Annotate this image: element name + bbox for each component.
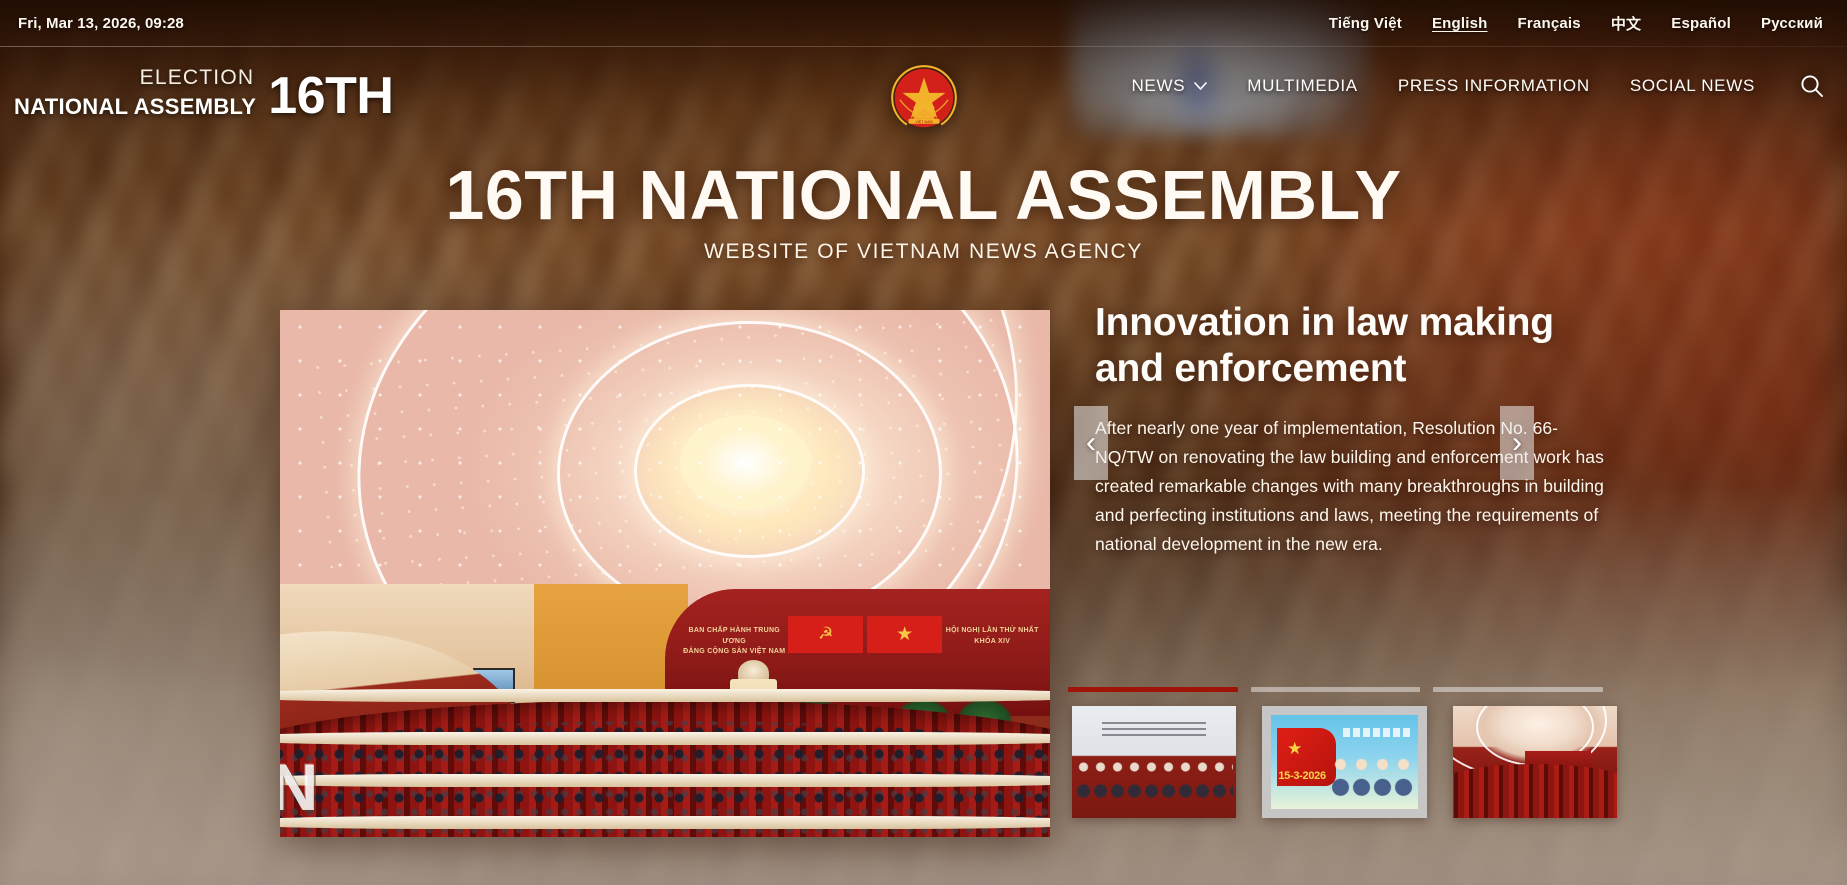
language-option-english[interactable]: English — [1432, 15, 1488, 32]
thumbnail-hall-seats — [1453, 764, 1617, 818]
brand-election-label: ELECTION — [140, 67, 255, 88]
site-logo[interactable]: ELECTION NATIONAL ASSEMBLY 16TH — [14, 67, 393, 118]
language-selector: Tiếng Việt English Français 中文 Español Р… — [1329, 13, 1823, 34]
thumbnail-group-photo-people — [1075, 749, 1232, 809]
thumbnail-group-photo-banner — [1102, 722, 1207, 738]
ceiling-lights-inner — [303, 310, 1027, 598]
language-option-russian[interactable]: Русский — [1761, 15, 1823, 32]
language-option-spanish[interactable]: Español — [1671, 15, 1731, 32]
nav-item-multimedia[interactable]: MULTIMEDIA — [1247, 76, 1358, 96]
carousel-prev-button[interactable]: ‹ — [1074, 406, 1108, 480]
national-flag-icon — [867, 616, 942, 653]
thumbnail-group-photo[interactable] — [1072, 706, 1236, 818]
seat-rail-2 — [280, 732, 1050, 745]
current-datetime: Fri, Mar 13, 2026, 09:28 — [18, 15, 184, 32]
carousel-progress — [1068, 687, 1603, 692]
brand-ordinal-label: 16TH — [268, 73, 393, 121]
ttxvn-watermark: TTXVN — [280, 749, 360, 825]
seat-rail-1 — [280, 689, 1050, 702]
carousel-progress-segment-3[interactable] — [1433, 687, 1603, 692]
seat-rail-4 — [280, 816, 1050, 829]
site-header: ELECTION NATIONAL ASSEMBLY 16TH — [0, 47, 1847, 140]
stage-banner-right: HỘI NGHỊ LẦN THỨ NHẤTKHÓA XIV — [942, 626, 1042, 647]
carousel-progress-segment-2[interactable] — [1251, 687, 1421, 692]
search-icon — [1799, 73, 1825, 99]
carousel-progress-segment-1[interactable] — [1068, 687, 1238, 692]
nav-item-press-information[interactable]: PRESS INFORMATION — [1398, 76, 1590, 96]
language-option-chinese[interactable]: 中文 — [1611, 13, 1641, 34]
carousel-thumbnails: ★ 15-3-2026 — [1072, 706, 1617, 828]
language-option-vietnamese[interactable]: Tiếng Việt — [1329, 15, 1402, 32]
vietnam-national-emblem-icon: VIỆT NAM — [881, 55, 967, 141]
stage-banner-left: BAN CHẤP HÀNH TRUNG ƯƠNGĐẢNG CỘNG SẢN VI… — [680, 626, 788, 658]
nav-item-social-news-label: SOCIAL NEWS — [1630, 76, 1755, 96]
hall-illustration: BAN CHẤP HÀNH TRUNG ƯƠNGĐẢNG CỘNG SẢN VI… — [280, 310, 1050, 837]
page-root: Fri, Mar 13, 2026, 09:28 Tiếng Việt Engl… — [0, 0, 1847, 885]
poster-crowd — [1330, 753, 1415, 806]
poster-emblem-icon: ★ — [1287, 739, 1302, 759]
thumbnail-assembly-hall[interactable] — [1453, 706, 1617, 818]
hero-feature-image[interactable]: BAN CHẤP HÀNH TRUNG ƯƠNGĐẢNG CỘNG SẢN VI… — [280, 310, 1050, 837]
poster-date-label: 15-3-2026 — [1278, 770, 1325, 782]
party-flag-icon — [788, 616, 863, 653]
thumbnail-election-poster[interactable]: ★ 15-3-2026 — [1262, 706, 1427, 818]
nav-item-social-news[interactable]: SOCIAL NEWS — [1630, 76, 1755, 96]
hero-subtitle: WEBSITE OF VIETNAM NEWS AGENCY — [0, 240, 1847, 264]
nav-item-news-label: NEWS — [1131, 76, 1185, 96]
seat-rail-3 — [280, 774, 1050, 787]
search-button[interactable] — [1799, 73, 1825, 99]
thumbnail-election-poster-art: ★ 15-3-2026 — [1271, 715, 1418, 809]
svg-text:VIỆT NAM: VIỆT NAM — [915, 119, 932, 124]
main-navigation: NEWS MULTIMEDIA PRESS INFORMATION SOCIAL… — [1131, 73, 1825, 99]
top-utility-bar: Fri, Mar 13, 2026, 09:28 Tiếng Việt Engl… — [0, 0, 1847, 47]
chevron-down-icon — [1194, 82, 1207, 90]
nav-item-multimedia-label: MULTIMEDIA — [1247, 76, 1358, 96]
featured-article-title: Innovation in law making and enforcement — [1095, 300, 1605, 392]
brand-assembly-label: NATIONAL ASSEMBLY — [14, 96, 256, 118]
hero-title: 16TH NATIONAL ASSEMBLY — [0, 155, 1847, 235]
carousel-next-button[interactable]: › — [1500, 406, 1534, 480]
language-option-french[interactable]: Français — [1518, 15, 1581, 32]
stage-flags — [788, 616, 942, 653]
poster-caption-strip — [1343, 728, 1411, 736]
nav-item-news[interactable]: NEWS — [1131, 76, 1207, 96]
nav-item-press-information-label: PRESS INFORMATION — [1398, 76, 1590, 96]
